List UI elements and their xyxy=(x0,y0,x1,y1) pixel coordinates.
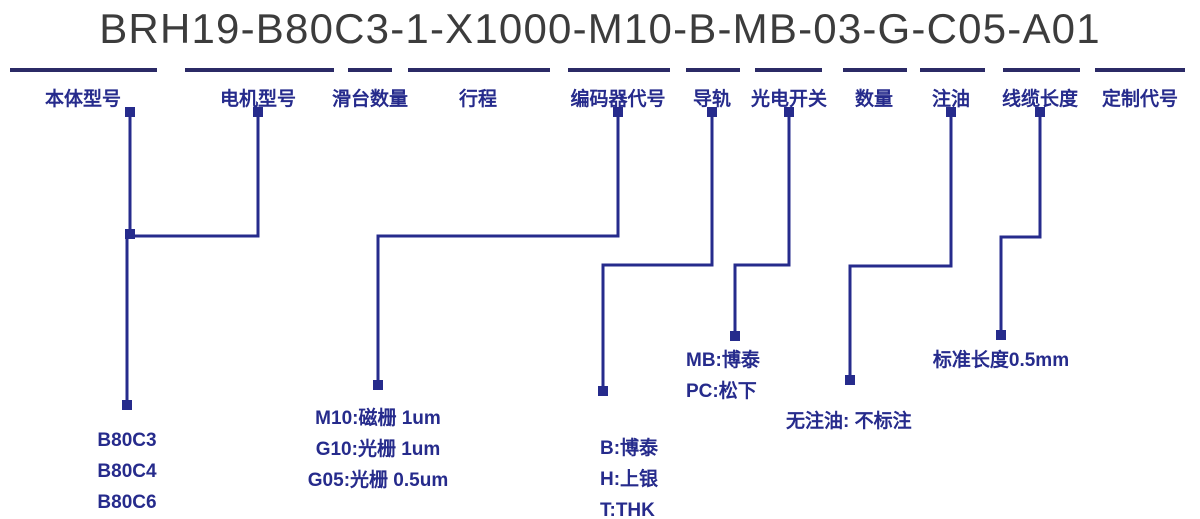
connector-path xyxy=(130,110,258,236)
field-label-slider-count: 滑台数量 xyxy=(332,84,408,111)
value-list-oil-injection: 无注油: 不标注 xyxy=(786,406,912,437)
field-label-custom-code: 定制代号 xyxy=(1102,84,1178,111)
product-code-diagram: BRH19-B80C3-1-X1000-M10-B-MB-03-G-C05-A0… xyxy=(0,0,1200,519)
underline-cable-length xyxy=(1003,68,1080,72)
product-code-text: BRH19-B80C3-1-X1000-M10-B-MB-03-G-C05-A0… xyxy=(0,0,1200,58)
value-item: PC:松下 xyxy=(686,376,760,407)
value-item: B80C6 xyxy=(97,487,156,518)
connector-path xyxy=(127,110,130,407)
connector-body-model xyxy=(122,107,135,410)
connector-path xyxy=(1001,110,1040,337)
underline-quantity xyxy=(843,68,907,72)
connector-cable-length xyxy=(996,107,1045,340)
connector-end-marker xyxy=(845,375,855,385)
underline-photoelectric-switch xyxy=(755,68,822,72)
underline-stroke xyxy=(408,68,550,72)
value-list-photoelectric-switch: MB:博泰PC:松下 xyxy=(686,345,760,407)
underline-encoder-code xyxy=(568,68,670,72)
field-label-motor-model: 电机型号 xyxy=(220,84,296,111)
value-item: MB:博泰 xyxy=(686,345,760,376)
field-label-photoelectric-switch: 光电开关 xyxy=(751,84,827,111)
field-label-guide-rail: 导轨 xyxy=(693,84,731,111)
connector-motor-model xyxy=(125,107,263,239)
value-list-encoder-code: M10:磁栅 1umG10:光栅 1umG05:光栅 0.5um xyxy=(308,403,448,496)
underline-body-model xyxy=(10,68,157,72)
connector-end-marker xyxy=(996,330,1006,340)
value-item: M10:磁栅 1um xyxy=(308,403,448,434)
connector-path xyxy=(735,110,789,338)
underline-guide-rail xyxy=(686,68,740,72)
connector-path xyxy=(850,110,951,382)
connector-start-marker xyxy=(125,107,135,117)
value-item: 无注油: 不标注 xyxy=(786,406,912,437)
connector-end-marker xyxy=(730,331,740,341)
value-item: 标准长度0.5mm xyxy=(933,345,1069,376)
connector-end-marker xyxy=(373,380,383,390)
value-item: T:THK xyxy=(600,495,658,519)
underline-motor-model xyxy=(185,68,334,72)
value-item: G05:光栅 0.5um xyxy=(308,465,448,496)
connector-end-marker xyxy=(598,386,608,396)
connector-photoelectric-switch xyxy=(730,107,794,341)
connector-end-marker xyxy=(122,400,132,410)
value-item: B:博泰 xyxy=(600,433,658,464)
connector-path xyxy=(378,110,618,387)
field-label-stroke: 行程 xyxy=(459,84,497,111)
field-label-body-model: 本体型号 xyxy=(45,84,121,111)
field-label-oil-injection: 注油 xyxy=(932,84,970,111)
field-label-cable-length: 线缆长度 xyxy=(1002,84,1078,111)
underline-slider-count xyxy=(348,68,392,72)
connector-oil-injection xyxy=(845,107,956,385)
value-list-cable-length: 标准长度0.5mm xyxy=(933,345,1069,376)
field-label-encoder-code: 编码器代号 xyxy=(570,84,665,111)
value-list-guide-rail: B:博泰H:上银T:THK xyxy=(600,433,658,519)
connector-encoder-code xyxy=(373,107,623,390)
underline-custom-code xyxy=(1095,68,1185,72)
value-list-body-model: B80C3B80C4B80C6 xyxy=(97,425,156,518)
connector-end-marker xyxy=(125,229,135,239)
value-item: H:上银 xyxy=(600,464,658,495)
field-label-quantity: 数量 xyxy=(855,84,893,111)
value-item: G10:光栅 1um xyxy=(308,434,448,465)
underline-oil-injection xyxy=(920,68,985,72)
value-item: B80C3 xyxy=(97,425,156,456)
value-item: B80C4 xyxy=(97,456,156,487)
